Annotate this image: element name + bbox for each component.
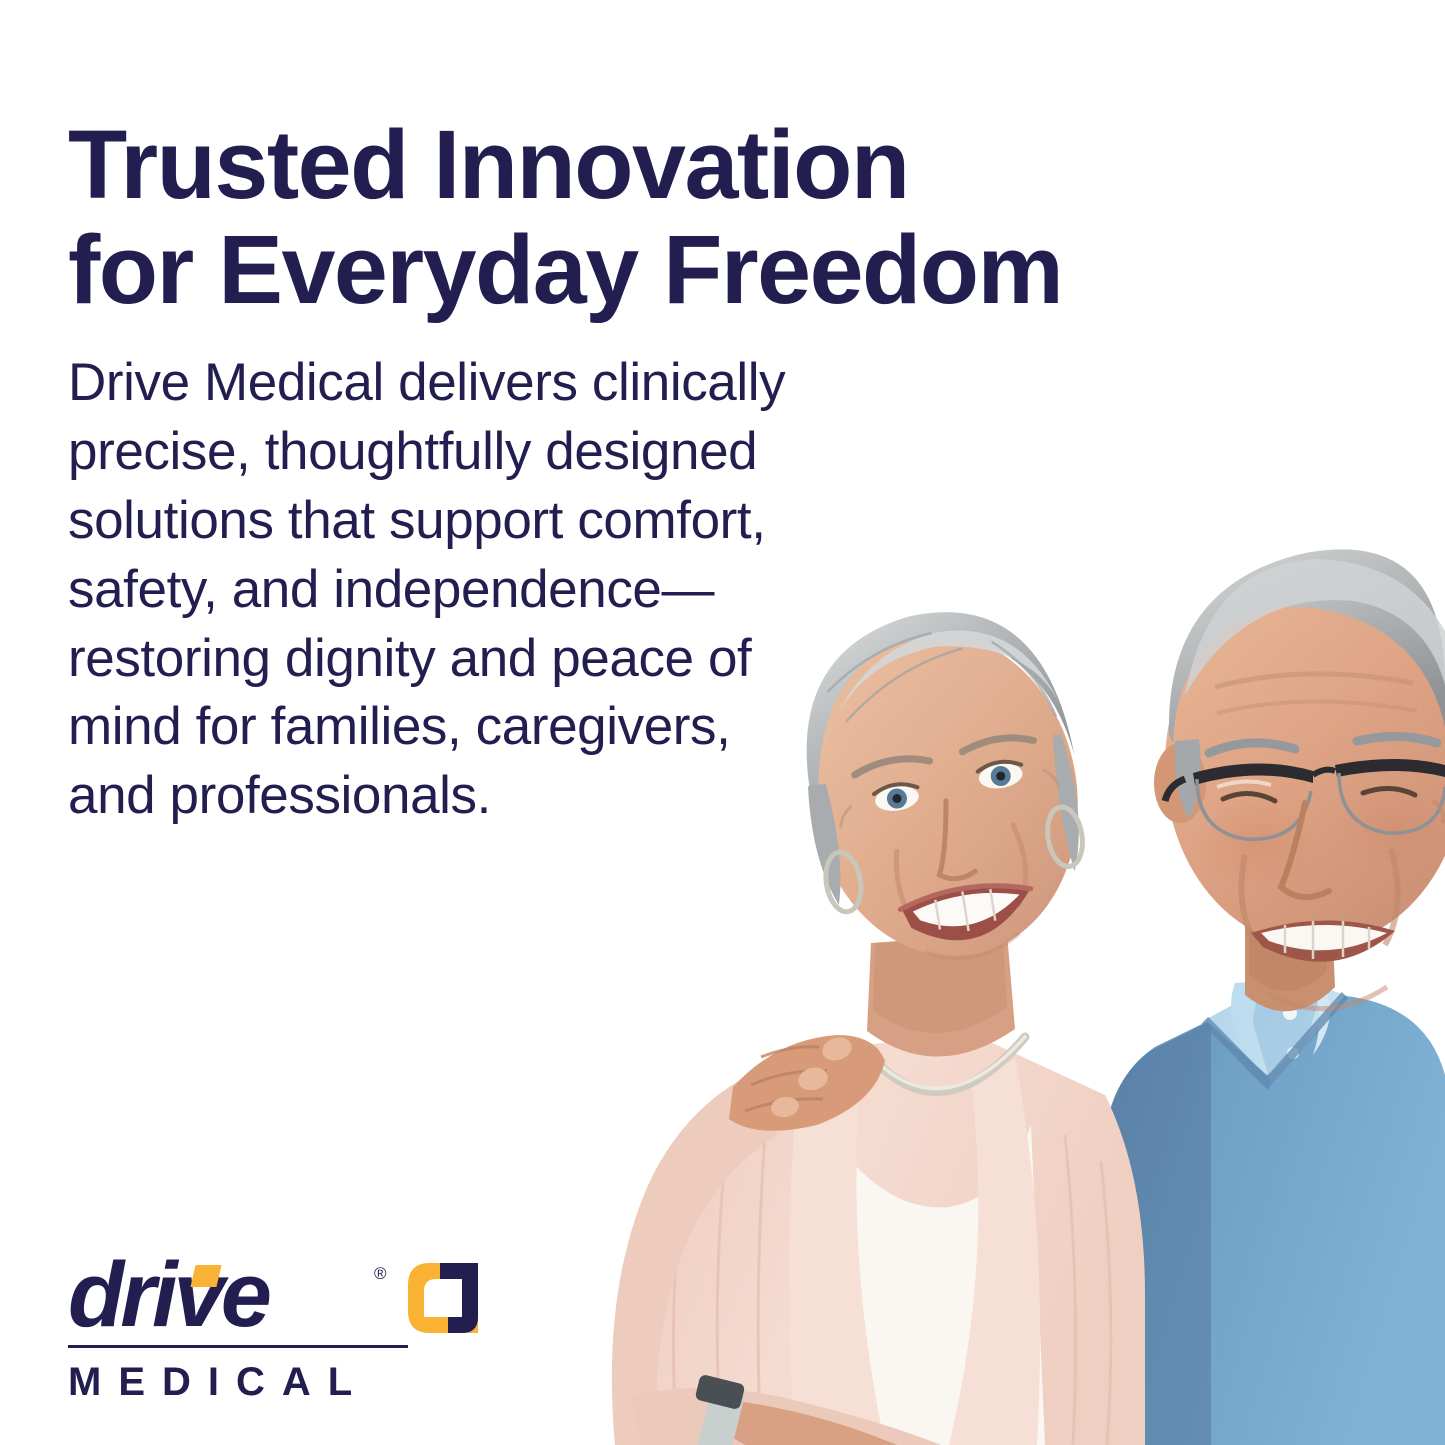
body-paragraph: Drive Medical delivers clinically precis… [68,349,948,831]
logo-top-row: drive ® [68,1247,418,1343]
headline-line-2: for Everyday Freedom [68,218,1188,323]
logo-subtitle: MEDICAL [68,1362,418,1402]
body-line-4: safety, and independence— [68,556,948,625]
body-line-7: and professionals. [68,762,948,831]
drive-medical-logo: drive ® MEDICAL [68,1247,418,1402]
promo-banner: Trusted Innovation for Everyday Freedom … [0,0,1445,1445]
page-title: Trusted Innovation for Everyday Freedom [68,113,1188,323]
body-line-1: Drive Medical delivers clinically [68,349,948,418]
logo-wordmark: drive [68,1247,268,1343]
logo-i-dot-accent [190,1265,221,1287]
drive-bracket-mark-icon [404,1259,482,1337]
headline-line-1: Trusted Innovation [68,113,1188,218]
body-line-6: mind for families, caregivers, [68,693,948,762]
registered-trademark-icon: ® [374,1265,387,1282]
body-line-3: solutions that support comfort, [68,487,948,556]
body-line-5: restoring dignity and peace of [68,625,948,694]
body-line-2: precise, thoughtfully designed [68,418,948,487]
